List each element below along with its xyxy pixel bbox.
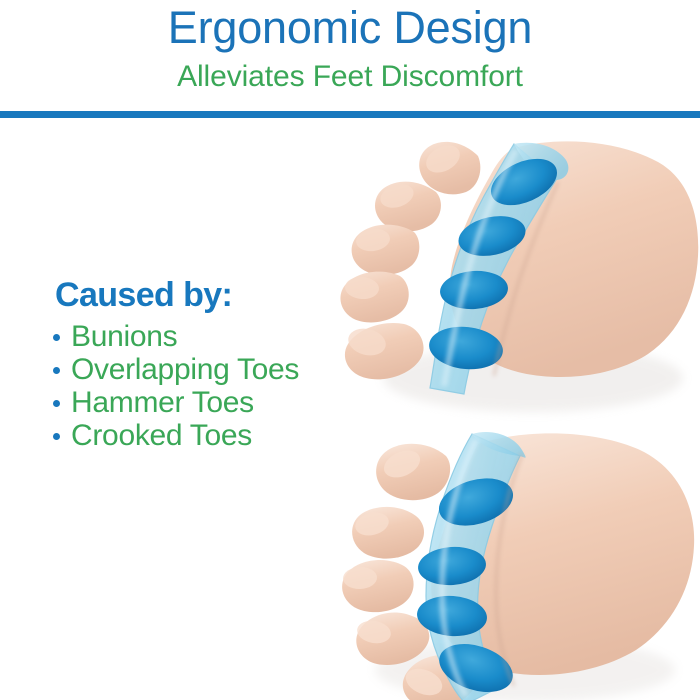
list-item: Hammer Toes <box>53 386 353 419</box>
list-item: Bunions <box>53 320 353 353</box>
header-banner: Ergonomic Design Alleviates Feet Discomf… <box>0 0 700 112</box>
list-item-label: Bunions <box>71 320 177 353</box>
header-divider <box>0 111 700 118</box>
list-item-label: Hammer Toes <box>71 386 254 419</box>
product-marketing-image: Ergonomic Design Alleviates Feet Discomf… <box>0 0 700 700</box>
product-photo-foot-bottom <box>300 420 700 700</box>
bullet-icon <box>53 400 60 407</box>
bullet-icon <box>53 334 60 341</box>
product-photo-foot-top <box>318 126 700 426</box>
bullet-icon <box>53 367 60 374</box>
bullet-icon <box>53 433 60 440</box>
list-item-label: Overlapping Toes <box>71 353 299 386</box>
list-item: Overlapping Toes <box>53 353 353 386</box>
causes-heading: Caused by: <box>55 276 353 314</box>
list-item-label: Crooked Toes <box>71 419 252 452</box>
page-title: Ergonomic Design <box>0 1 700 55</box>
page-subtitle: Alleviates Feet Discomfort <box>0 58 700 96</box>
